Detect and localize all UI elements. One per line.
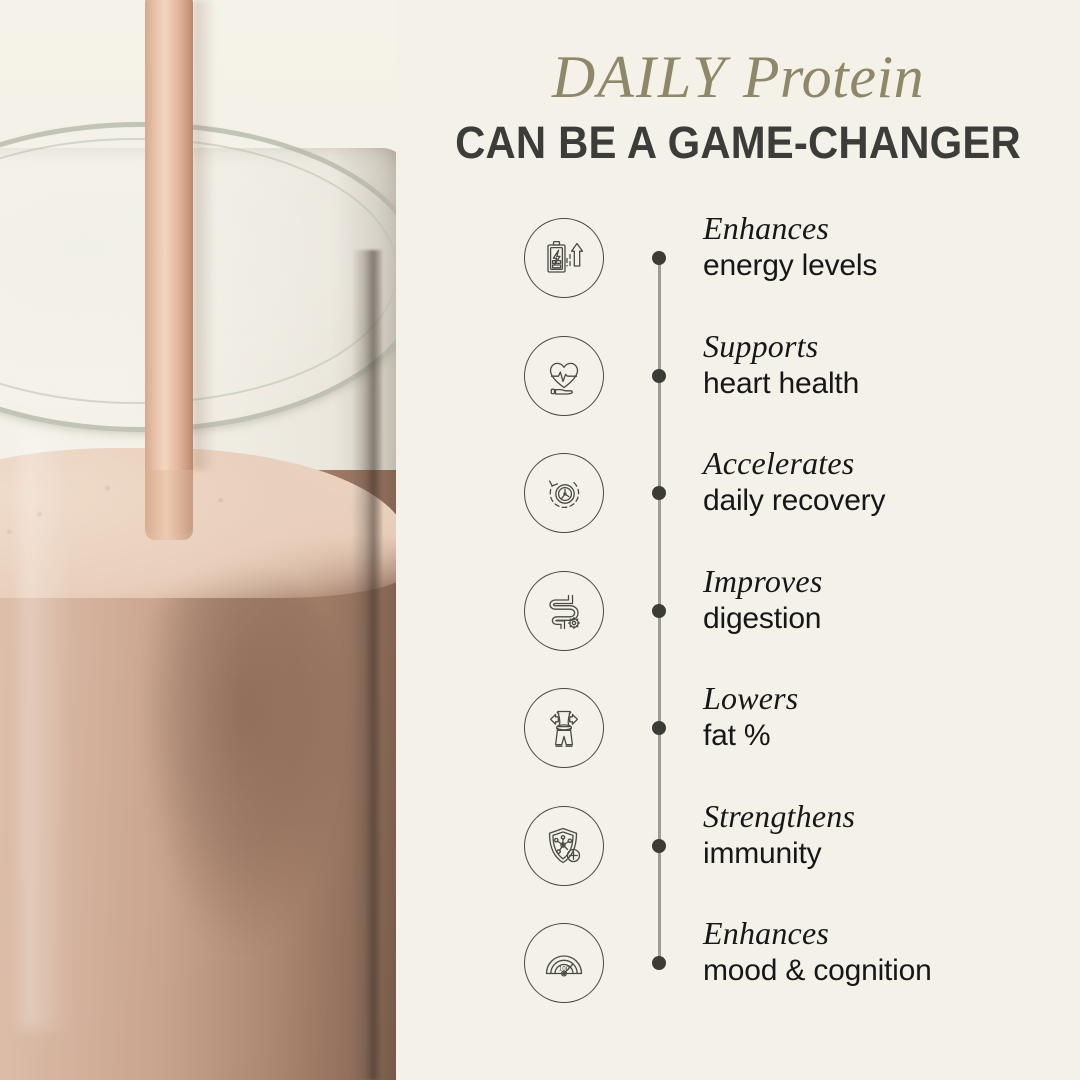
benefit-desc: immunity	[703, 836, 1073, 872]
timeline-dot	[652, 369, 666, 383]
content-column: DAILY Protein CAN BE A GAME-CHANGER	[396, 0, 1080, 1080]
svg-text:100: 100	[559, 965, 570, 972]
timeline-dot	[652, 604, 666, 618]
benefit-desc: digestion	[703, 601, 1073, 637]
title-word-protein: Protein	[743, 44, 924, 110]
clock-recovery-icon	[524, 453, 604, 533]
benefit-lead: Lowers	[703, 680, 1073, 717]
benefit-lead: Accelerates	[703, 445, 1073, 482]
straw-submerged-part	[145, 470, 193, 540]
benefit-desc: daily recovery	[703, 483, 1073, 519]
benefits-list: Enhances energy levels Supports	[396, 218, 1080, 1041]
benefit-desc: heart health	[703, 366, 1073, 402]
glass-highlight	[20, 430, 72, 1030]
benefit-text: Enhances mood & cognition	[703, 915, 1073, 989]
gauge-meter-icon: 100	[524, 923, 604, 1003]
benefit-row: 100 Enhances mood & cognition	[396, 923, 1080, 1041]
benefit-desc: mood & cognition	[703, 953, 1073, 989]
timeline-dot	[652, 839, 666, 853]
benefit-row: Improves digestion	[396, 571, 1080, 689]
benefit-lead: Strengthens	[703, 798, 1073, 835]
page-subtitle: CAN BE A GAME-CHANGER	[420, 120, 1056, 165]
benefit-row: Accelerates daily recovery	[396, 453, 1080, 571]
drinking-straw	[145, 0, 193, 534]
protein-shake-photo	[0, 0, 396, 1080]
page-title: DAILY Protein	[396, 46, 1080, 108]
benefit-text: Lowers fat %	[703, 680, 1073, 754]
glass-right-edge	[352, 250, 382, 1080]
intestines-gear-icon	[524, 571, 604, 651]
benefit-lead: Improves	[703, 563, 1073, 600]
shield-molecule-cross-icon	[524, 806, 604, 886]
benefit-row: Strengthens immunity	[396, 806, 1080, 924]
timeline-dot	[652, 251, 666, 265]
benefit-lead: Supports	[703, 328, 1073, 365]
heart-in-hand-icon	[524, 336, 604, 416]
benefit-text: Strengthens immunity	[703, 798, 1073, 872]
title-word-daily: DAILY	[552, 44, 728, 110]
waist-slimming-icon	[524, 688, 604, 768]
benefit-row: Lowers fat %	[396, 688, 1080, 806]
protein-benefits-infographic: DAILY Protein CAN BE A GAME-CHANGER	[0, 0, 1080, 1080]
benefit-row: Enhances energy levels	[396, 218, 1080, 336]
benefit-text: Accelerates daily recovery	[703, 445, 1073, 519]
benefit-text: Improves digestion	[703, 563, 1073, 637]
timeline-dot	[652, 486, 666, 500]
timeline-dot	[652, 721, 666, 735]
benefit-desc: fat %	[703, 718, 1073, 754]
benefit-lead: Enhances	[703, 915, 1073, 952]
timeline-dot	[652, 956, 666, 970]
battery-energy-arrows-icon	[524, 218, 604, 298]
benefit-lead: Enhances	[703, 210, 1073, 247]
benefit-text: Supports heart health	[703, 328, 1073, 402]
benefit-text: Enhances energy levels	[703, 210, 1073, 284]
headline-block: DAILY Protein CAN BE A GAME-CHANGER	[396, 46, 1080, 165]
straw-shadow	[193, 0, 215, 470]
benefit-row: Supports heart health	[396, 336, 1080, 454]
benefit-desc: energy levels	[703, 248, 1073, 284]
